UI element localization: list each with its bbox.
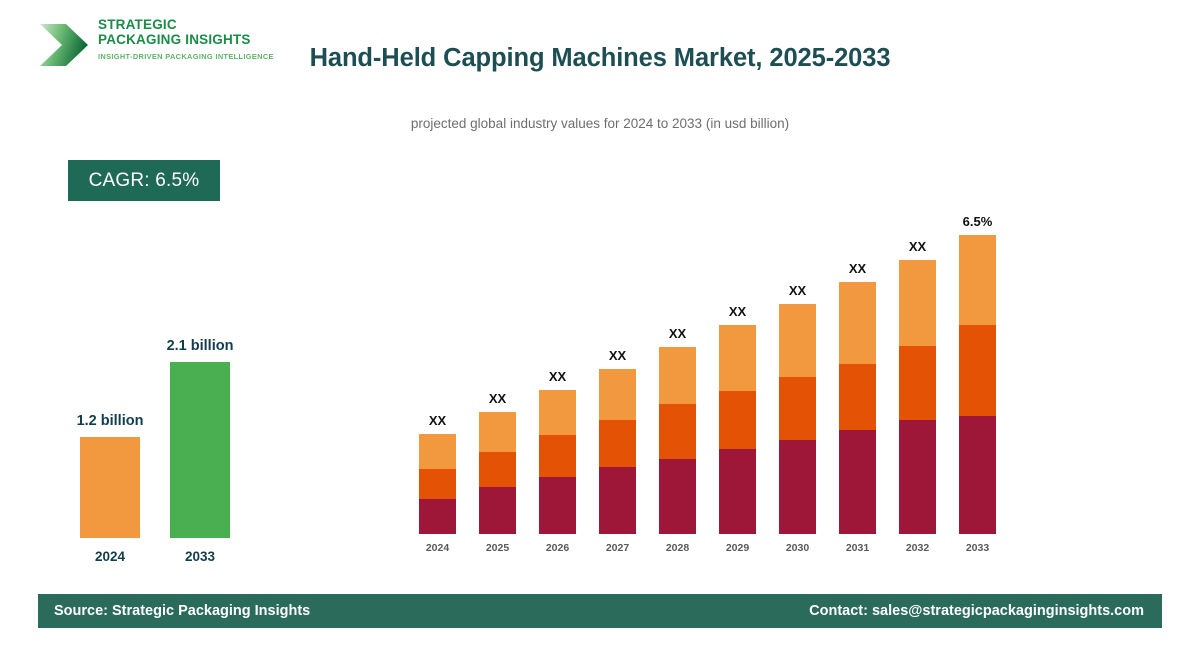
stacked-segment-segment-3-2032 bbox=[899, 260, 936, 346]
stacked-segment-segment-1-2032 bbox=[899, 420, 936, 534]
endpoint-comparison-chart: 1.2 billion20242.1 billion2033 bbox=[40, 300, 270, 570]
brand-line-2: PACKAGING INSIGHTS bbox=[98, 33, 266, 48]
stacked-segment-segment-3-2024 bbox=[419, 434, 456, 469]
stacked-bar-value-2029: XX bbox=[708, 304, 768, 319]
stacked-segment-segment-3-2031 bbox=[839, 282, 876, 364]
stacked-segment-segment-1-2025 bbox=[479, 487, 516, 534]
brand-tagline: INSIGHT-DRIVEN PACKAGING INTELLIGENCE bbox=[98, 52, 266, 61]
stacked-bar-value-2033: 6.5% bbox=[948, 214, 1008, 229]
stacked-bar-category-2029: 2029 bbox=[719, 542, 756, 554]
stacked-bar-value-2025: XX bbox=[468, 391, 528, 406]
stacked-bar-category-2026: 2026 bbox=[539, 542, 576, 554]
page-subtitle: projected global industry values for 202… bbox=[250, 115, 950, 133]
stacked-segment-segment-2-2026 bbox=[539, 435, 576, 477]
mini-bar-value-2024: 1.2 billion bbox=[52, 413, 168, 429]
stacked-bar-value-2024: XX bbox=[408, 413, 468, 428]
stacked-segment-segment-3-2033 bbox=[959, 235, 996, 325]
stacked-segment-segment-3-2025 bbox=[479, 412, 516, 452]
stacked-segment-segment-1-2026 bbox=[539, 477, 576, 534]
stacked-bar-2030 bbox=[779, 304, 816, 534]
footer-bar: Source: Strategic Packaging Insights Con… bbox=[38, 594, 1162, 628]
stacked-bar-2027 bbox=[599, 369, 636, 534]
footer-contact: Contact: sales@strategicpackaginginsight… bbox=[809, 603, 1144, 619]
brand-line-1: STRATEGIC bbox=[98, 18, 266, 33]
page-title: Hand-Held Capping Machines Market, 2025-… bbox=[300, 42, 900, 75]
stacked-segment-segment-2-2028 bbox=[659, 404, 696, 459]
stacked-segment-segment-2-2033 bbox=[959, 325, 996, 416]
stacked-segment-segment-2-2025 bbox=[479, 452, 516, 487]
stacked-bar-category-2032: 2032 bbox=[899, 542, 936, 554]
stacked-bar-value-2026: XX bbox=[528, 369, 588, 384]
stacked-bar-category-2030: 2030 bbox=[779, 542, 816, 554]
stacked-segment-segment-1-2028 bbox=[659, 459, 696, 534]
stacked-segment-segment-2-2024 bbox=[419, 469, 456, 499]
stacked-bar-category-2028: 2028 bbox=[659, 542, 696, 554]
infographic-canvas: STRATEGIC PACKAGING INSIGHTS INSIGHT-DRI… bbox=[0, 0, 1200, 650]
stacked-segment-segment-1-2031 bbox=[839, 430, 876, 534]
stacked-bar-value-2032: XX bbox=[888, 239, 948, 254]
cagr-badge: CAGR: 6.5% bbox=[68, 160, 220, 201]
stacked-bar-2026 bbox=[539, 390, 576, 534]
stacked-segment-segment-3-2028 bbox=[659, 347, 696, 404]
stacked-bar-category-2024: 2024 bbox=[419, 542, 456, 554]
mini-bar-category-2024: 2024 bbox=[80, 549, 140, 564]
mini-bar-category-2033: 2033 bbox=[170, 549, 230, 564]
chevron-arrow-logo-icon bbox=[36, 18, 92, 72]
mini-bar-value-2033: 2.1 billion bbox=[142, 338, 258, 354]
stacked-segment-segment-2-2029 bbox=[719, 391, 756, 449]
stacked-bar-2032 bbox=[899, 260, 936, 534]
footer-source: Source: Strategic Packaging Insights bbox=[54, 603, 310, 619]
stacked-bar-value-2030: XX bbox=[768, 283, 828, 298]
stacked-segment-segment-2-2032 bbox=[899, 346, 936, 420]
stacked-segment-segment-1-2024 bbox=[419, 499, 456, 534]
stacked-bar-category-2031: 2031 bbox=[839, 542, 876, 554]
stacked-bar-2033 bbox=[959, 235, 996, 534]
stacked-segment-segment-3-2029 bbox=[719, 325, 756, 391]
stacked-segment-segment-1-2030 bbox=[779, 440, 816, 534]
stacked-segment-segment-3-2027 bbox=[599, 369, 636, 420]
stacked-segment-segment-1-2027 bbox=[599, 467, 636, 534]
stacked-bar-category-2027: 2027 bbox=[599, 542, 636, 554]
stacked-bar-value-2028: XX bbox=[648, 326, 708, 341]
brand-logo-text: STRATEGIC PACKAGING INSIGHTS INSIGHT-DRI… bbox=[98, 18, 266, 61]
brand-logo: STRATEGIC PACKAGING INSIGHTS INSIGHT-DRI… bbox=[36, 16, 266, 78]
mini-bar-2024 bbox=[80, 437, 140, 538]
stacked-bar-category-2025: 2025 bbox=[479, 542, 516, 554]
stacked-bar-2024 bbox=[419, 434, 456, 534]
stacked-segment-segment-1-2029 bbox=[719, 449, 756, 534]
stacked-segment-segment-3-2026 bbox=[539, 390, 576, 435]
cagr-badge-label: CAGR: 6.5% bbox=[89, 170, 200, 192]
stacked-bar-2031 bbox=[839, 282, 876, 534]
stacked-segment-segment-2-2030 bbox=[779, 377, 816, 440]
stacked-bar-category-2033: 2033 bbox=[959, 542, 996, 554]
stacked-segment-segment-3-2030 bbox=[779, 304, 816, 377]
stacked-bar-2025 bbox=[479, 412, 516, 534]
stacked-segment-segment-1-2033 bbox=[959, 416, 996, 534]
stacked-bar-value-2027: XX bbox=[588, 348, 648, 363]
segment-stacked-forecast-chart: XX2024XX2025XX2026XX2027XX2028XX2029XX20… bbox=[400, 190, 1020, 560]
stacked-bar-2028 bbox=[659, 347, 696, 534]
stacked-segment-segment-2-2031 bbox=[839, 364, 876, 430]
mini-bar-2033 bbox=[170, 362, 230, 538]
stacked-bar-value-2031: XX bbox=[828, 261, 888, 276]
stacked-bar-2029 bbox=[719, 325, 756, 534]
stacked-segment-segment-2-2027 bbox=[599, 420, 636, 467]
